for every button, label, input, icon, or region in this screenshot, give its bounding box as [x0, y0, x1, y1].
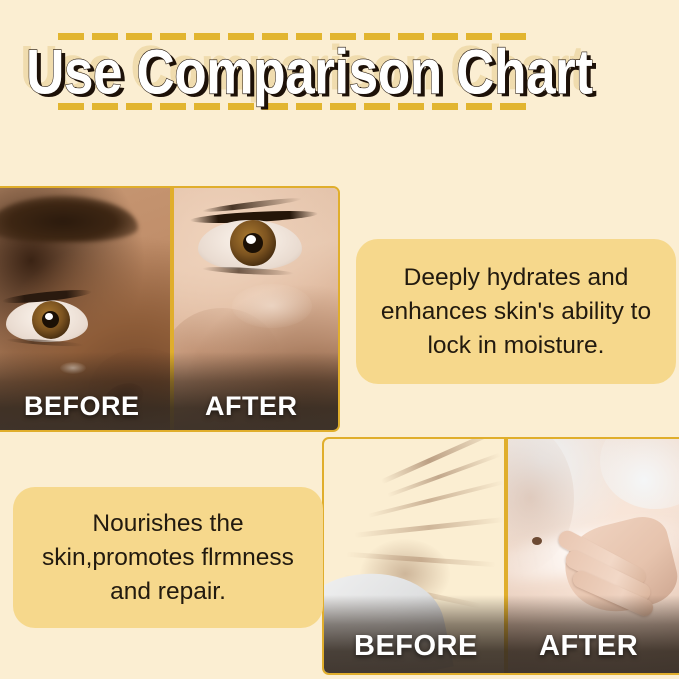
face-pane-divider: [170, 188, 174, 430]
face-after-label: AFTER: [205, 391, 298, 422]
face-after-cheek-highlight: [232, 284, 312, 328]
neck-after-label: AFTER: [539, 630, 638, 663]
neck-after-beauty-mark: [532, 537, 542, 545]
page-title: Use Comparison Chart Use Comparison Char…: [0, 38, 679, 100]
benefit-card-nourish: Nourishes the skin,promotes flrmness and…: [13, 487, 323, 628]
neck-pane-divider: [504, 439, 508, 673]
comparison-chart-page: Use Comparison Chart Use Comparison Char…: [0, 0, 679, 679]
page-title-text: Use Comparison Chart: [26, 38, 676, 108]
comparison-photo-face: BEFORE AFTER: [0, 186, 340, 432]
face-after-eye-glint: [246, 235, 256, 244]
face-before-eye-glint: [45, 313, 53, 320]
face-before-label: BEFORE: [24, 391, 140, 422]
neck-before-label: BEFORE: [354, 630, 478, 663]
face-before-highlight: [60, 362, 86, 374]
benefit-card-nourish-text: Nourishes the skin,promotes flrmness and…: [25, 507, 311, 609]
comparison-photo-neck: BEFORE AFTER: [322, 437, 679, 675]
header-banner: Use Comparison Chart Use Comparison Char…: [0, 0, 679, 160]
benefit-card-hydrate-text: Deeply hydrates and enhances skin's abil…: [370, 261, 662, 363]
benefit-card-hydrate: Deeply hydrates and enhances skin's abil…: [356, 239, 676, 384]
